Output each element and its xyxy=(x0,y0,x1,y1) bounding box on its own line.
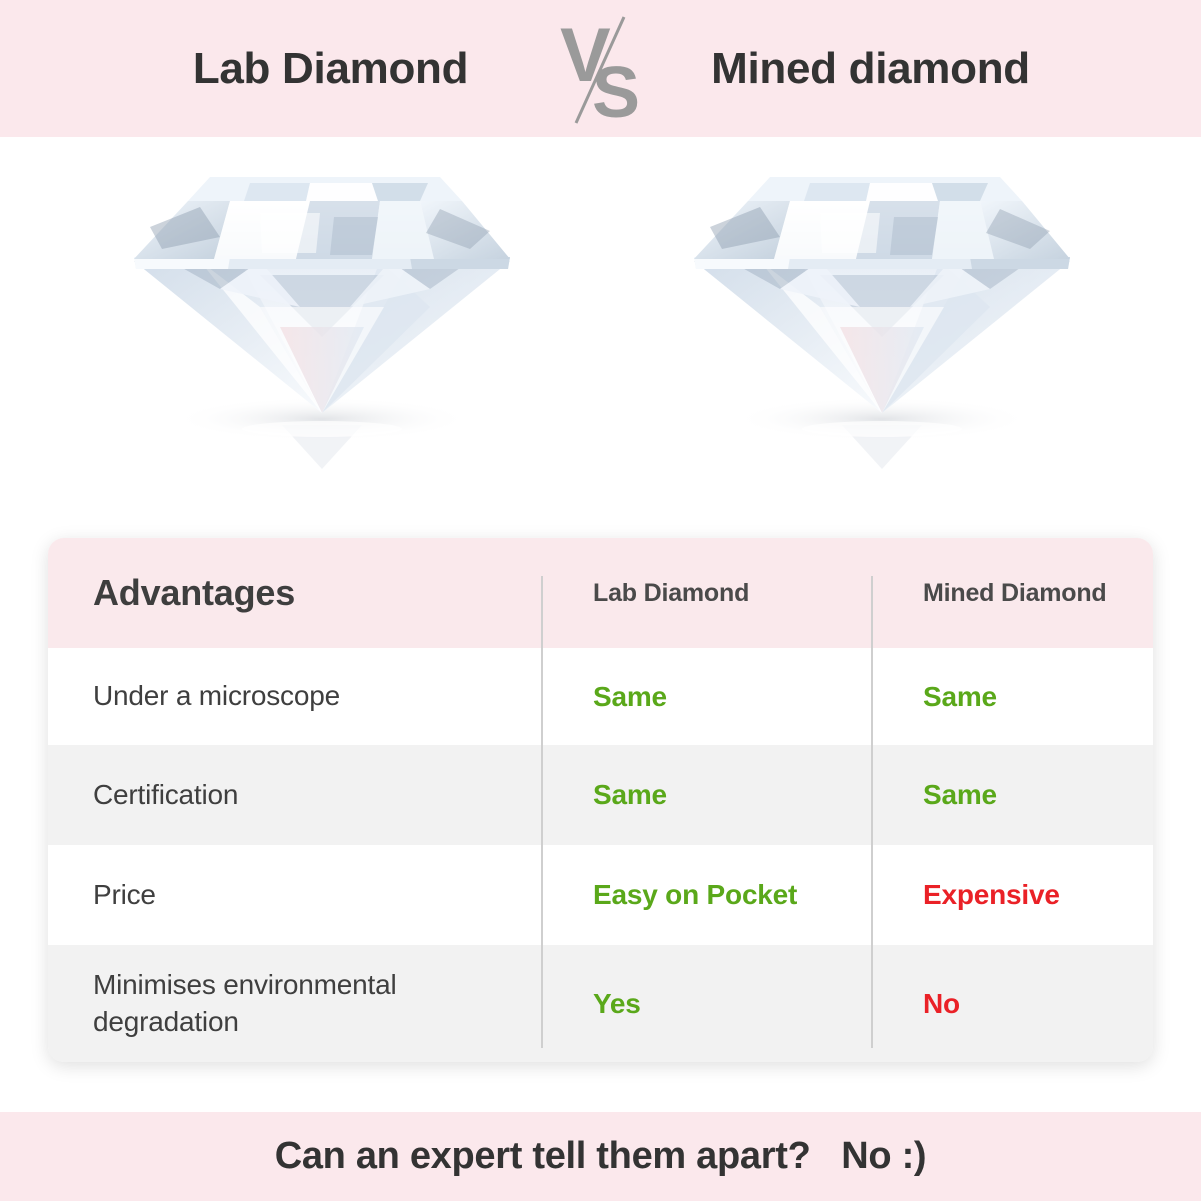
svg-text:S: S xyxy=(592,53,640,129)
comparison-table: Advantages Lab Diamond Mined Diamond Und… xyxy=(48,538,1153,1062)
lab-value: Easy on Pocket xyxy=(593,879,797,910)
mined-value: Same xyxy=(923,681,997,712)
mined-value: No xyxy=(923,988,960,1019)
mined-diamond-image xyxy=(670,157,1090,477)
table-row: Price Easy on Pocket Expensive xyxy=(48,845,1153,945)
lab-value-cell: Same xyxy=(541,779,871,811)
mined-diamond-title: Mined diamond xyxy=(656,44,1086,94)
mined-value-cell: Same xyxy=(871,779,1153,811)
header-label-lab-diamond: Lab Diamond xyxy=(593,579,749,607)
lab-value: Yes xyxy=(593,988,641,1019)
table-row: Certification Same Same xyxy=(48,745,1153,845)
table-row: Under a microscope Same Same xyxy=(48,648,1153,745)
header-cell-advantages: Advantages xyxy=(48,572,541,614)
bottom-banner: Can an expert tell them apart? No :) xyxy=(0,1112,1201,1201)
comparison-table-card: Advantages Lab Diamond Mined Diamond Und… xyxy=(48,538,1153,1062)
mined-value: Expensive xyxy=(923,879,1060,910)
lab-value-cell: Yes xyxy=(541,988,871,1020)
table-row: Minimises environmental degradation Yes … xyxy=(48,945,1153,1062)
lab-diamond-title: Lab Diamond xyxy=(116,44,546,94)
header-label-mined-diamond: Mined Diamond xyxy=(923,579,1107,607)
vs-icon: V S xyxy=(546,9,656,129)
feature-label: Under a microscope xyxy=(93,680,340,711)
mined-value: Same xyxy=(923,779,997,810)
header-cell-mined-diamond: Mined Diamond xyxy=(871,579,1153,608)
lab-diamond-image xyxy=(110,157,530,477)
top-banner: Lab Diamond V S Mined diamond xyxy=(0,0,1201,137)
lab-value: Same xyxy=(593,681,667,712)
header-label-advantages: Advantages xyxy=(93,572,295,613)
feature-cell: Minimises environmental degradation xyxy=(48,967,541,1040)
lab-value: Same xyxy=(593,779,667,810)
header-cell-lab-diamond: Lab Diamond xyxy=(541,579,871,608)
lab-value-cell: Easy on Pocket xyxy=(541,879,871,911)
table-header-row: Advantages Lab Diamond Mined Diamond xyxy=(48,538,1153,648)
footer-question: Can an expert tell them apart? No :) xyxy=(275,1135,927,1178)
feature-label: Price xyxy=(93,879,156,910)
feature-cell: Certification xyxy=(48,777,541,813)
diamond-image-area xyxy=(0,137,1201,537)
mined-value-cell: Expensive xyxy=(871,879,1153,911)
feature-label: Certification xyxy=(93,779,238,810)
mined-value-cell: No xyxy=(871,988,1153,1020)
feature-cell: Price xyxy=(48,877,541,913)
lab-value-cell: Same xyxy=(541,681,871,713)
feature-cell: Under a microscope xyxy=(48,678,541,714)
mined-value-cell: Same xyxy=(871,681,1153,713)
feature-label: Minimises environmental degradation xyxy=(93,969,397,1036)
